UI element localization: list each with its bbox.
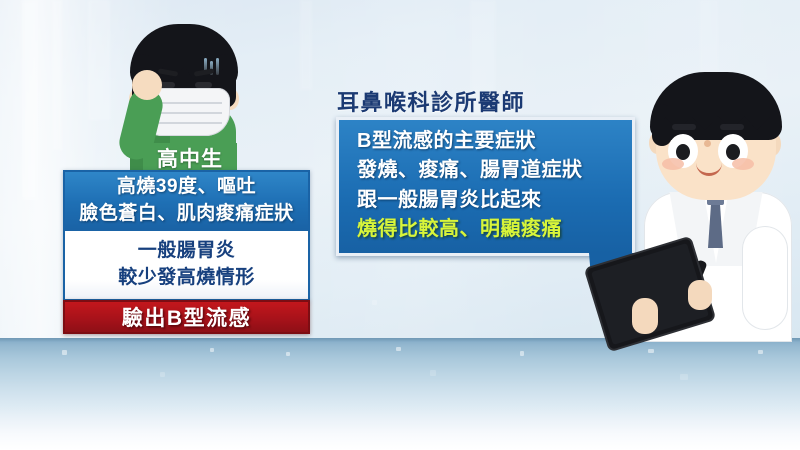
symptom-line-2: 臉色蒼白、肌肉痠痛症狀: [79, 201, 294, 228]
comparison-line-1: 一般腸胃炎: [138, 238, 236, 265]
student-symptom-panel: 高燒39度、嘔吐 臉色蒼白、肌肉痠痛症狀: [63, 170, 310, 231]
comparison-line-2: 較少發高燒情形: [118, 265, 255, 292]
diagnosis-result-label: 驗出B型流感: [122, 302, 251, 332]
diagnosis-result-banner: 驗出B型流感: [63, 300, 310, 334]
doctor-illustration: [636, 66, 800, 338]
symptom-line-1: 高燒39度、嘔吐: [117, 174, 256, 201]
doctor-title: 耳鼻喉科診所醫師: [337, 85, 525, 117]
student-role-tag: 高中生: [143, 143, 237, 173]
doctor-speech-bubble: B型流感的主要症狀 發燒、痠痛、腸胃道症狀 跟一般腸胃炎比起來 燒得比較高、明顯…: [336, 117, 635, 256]
left-info-panel: 高燒39度、嘔吐 臉色蒼白、肌肉痠痛症狀 一般腸胃炎 較少發高燒情形: [63, 170, 310, 301]
speech-line-3: 跟一般腸胃炎比起來: [357, 186, 632, 215]
background-lower-band: [0, 338, 800, 450]
broadcast-graphic: 高中生 高燒39度、嘔吐 臉色蒼白、肌肉痠痛症狀 一般腸胃炎 較少發高燒情形 驗…: [0, 0, 800, 450]
comparison-panel: 一般腸胃炎 較少發高燒情形: [63, 231, 310, 301]
student-role-label: 高中生: [157, 143, 223, 173]
speech-line-4-highlight: 燒得比較高、明顯痠痛: [357, 215, 632, 244]
speech-line-2: 發燒、痠痛、腸胃道症狀: [357, 156, 632, 185]
speech-line-1: B型流感的主要症狀: [357, 127, 632, 156]
